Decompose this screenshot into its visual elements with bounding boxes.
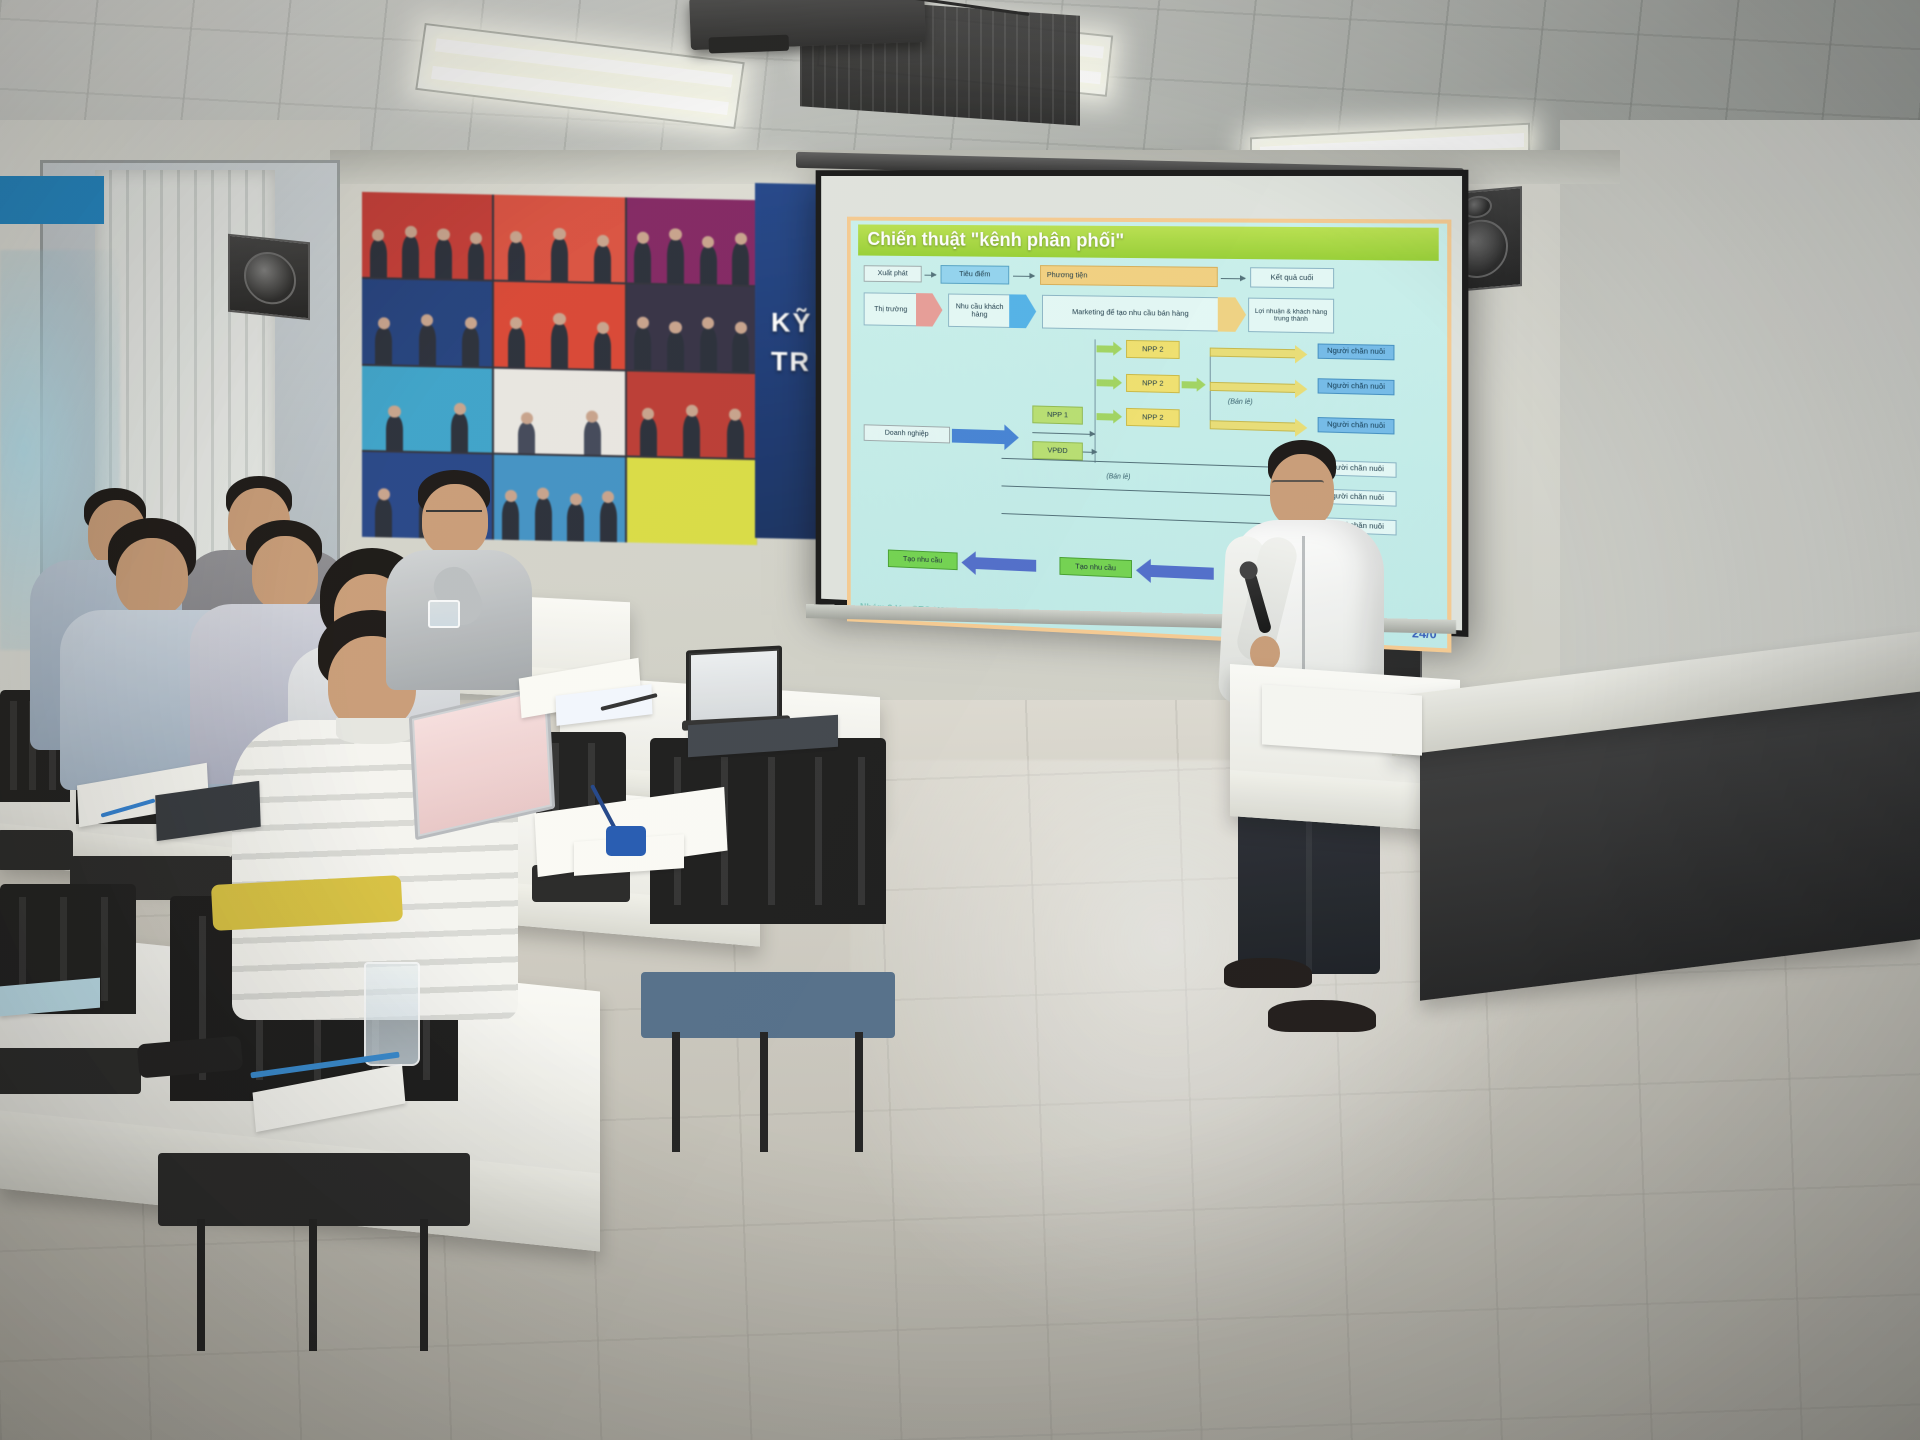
slide-box-endpoint-1: Người chăn nuôi (1318, 343, 1395, 360)
audience-person-7 (386, 470, 536, 650)
arrow-to-npp2-2 (1097, 379, 1115, 386)
slide-box-endpoint-3: Người chăn nuôi (1318, 417, 1395, 434)
audience-3-head (116, 538, 188, 616)
line-npp1-trunk (1032, 432, 1094, 435)
slide-box-endpoint-2: Người chăn nuôi (1318, 378, 1395, 395)
demand-arrow-1 (975, 557, 1036, 572)
arrow-to-npp2-1 (1097, 345, 1115, 352)
banner-headline-line2: TR (771, 342, 813, 382)
demand-arrow-2 (1150, 565, 1214, 580)
left-wall-speaker (228, 234, 310, 321)
retail-label-2: (Bán lẻ) (1106, 473, 1130, 481)
slide-box-demand-1: Tạo nhu cầu (888, 549, 958, 570)
slide-box-npp2-2: NPP 2 (1126, 374, 1180, 393)
slide-box-demand-2: Tạo nhu cầu (1059, 557, 1132, 578)
chevron-red-1 (916, 293, 942, 327)
retail-label-1: (Bán lẻ) (1228, 398, 1253, 406)
arrow-phuongtien-ketqua (1221, 278, 1245, 279)
audience-7-head (422, 484, 488, 556)
trunk-vertical-line (1095, 339, 1096, 463)
tablet-screen[interactable] (691, 651, 777, 724)
chevron-yellow-1 (1218, 297, 1246, 332)
slide-box-npp1: NPP 1 (1032, 405, 1083, 424)
slide-box-npp2-1: NPP 2 (1126, 340, 1180, 359)
arrow-xuatphat-tieudiem (925, 275, 936, 276)
presenter-shoe-right (1268, 1000, 1376, 1032)
chair-5 (650, 738, 886, 1038)
slide-box-marketing: Marketing để tạo nhu cầu bán hàng (1042, 295, 1220, 332)
banner-headline-line1: KỸ (771, 303, 813, 343)
slide-box-xuat-phat: Xuất phát (864, 265, 922, 282)
slide-box-npp2-3: NPP 2 (1126, 408, 1180, 428)
photo-scene: KỸ TR struction is owledge 2 Chiến thuật… (0, 0, 1920, 1440)
retail-arrow-2 (1210, 382, 1297, 393)
slide-box-vpdd: VPĐD (1032, 441, 1083, 460)
paper-presenter-table (1262, 684, 1422, 755)
slide-box-thi-truong: Thị trường (864, 292, 918, 326)
window-blue-banner (0, 176, 104, 224)
slide-box-ket-qua: Kết quả cuối (1250, 267, 1334, 288)
cup-on-table[interactable] (428, 600, 460, 628)
slide-title: Chiến thuật "kênh phân phối" (858, 224, 1439, 260)
retail-arrow-3 (1210, 420, 1297, 432)
arrow-tieudiem-phuongtien (1013, 276, 1034, 277)
retail-arrow-1 (1210, 348, 1297, 359)
presenter-glasses (1272, 480, 1324, 490)
slide-box-tieu-diem: Tiêu điểm (941, 265, 1010, 284)
ceiling-projector (689, 0, 926, 50)
water-glass[interactable] (364, 962, 420, 1066)
presenter-shoe-left (1224, 958, 1312, 988)
chevron-blue-1 (1009, 294, 1036, 328)
blue-device[interactable] (606, 826, 646, 856)
presenter-head (1270, 454, 1334, 528)
presenter-trouser-split (1306, 800, 1312, 976)
line-vpdd-trunk (1083, 452, 1097, 453)
arrow-doanh-nghiep (952, 429, 1005, 444)
audience-7-glasses (426, 510, 482, 519)
slide-box-phuong-tien: Phương tiện (1040, 265, 1218, 287)
banner-headline: KỸ TR (771, 303, 813, 382)
slide-box-doanh-nghiep: Doanh nghiệp (864, 424, 950, 443)
arrow-npp2-2-right (1182, 381, 1198, 388)
slide-box-loi-nhuan: Lợi nhuận & khách hàng trung thành (1248, 298, 1334, 334)
slide-box-nhu-cau-khach-hang: Nhu cầu khách hàng (948, 294, 1011, 328)
arrow-to-npp2-3 (1097, 413, 1115, 420)
audience-6-collar (336, 718, 414, 744)
